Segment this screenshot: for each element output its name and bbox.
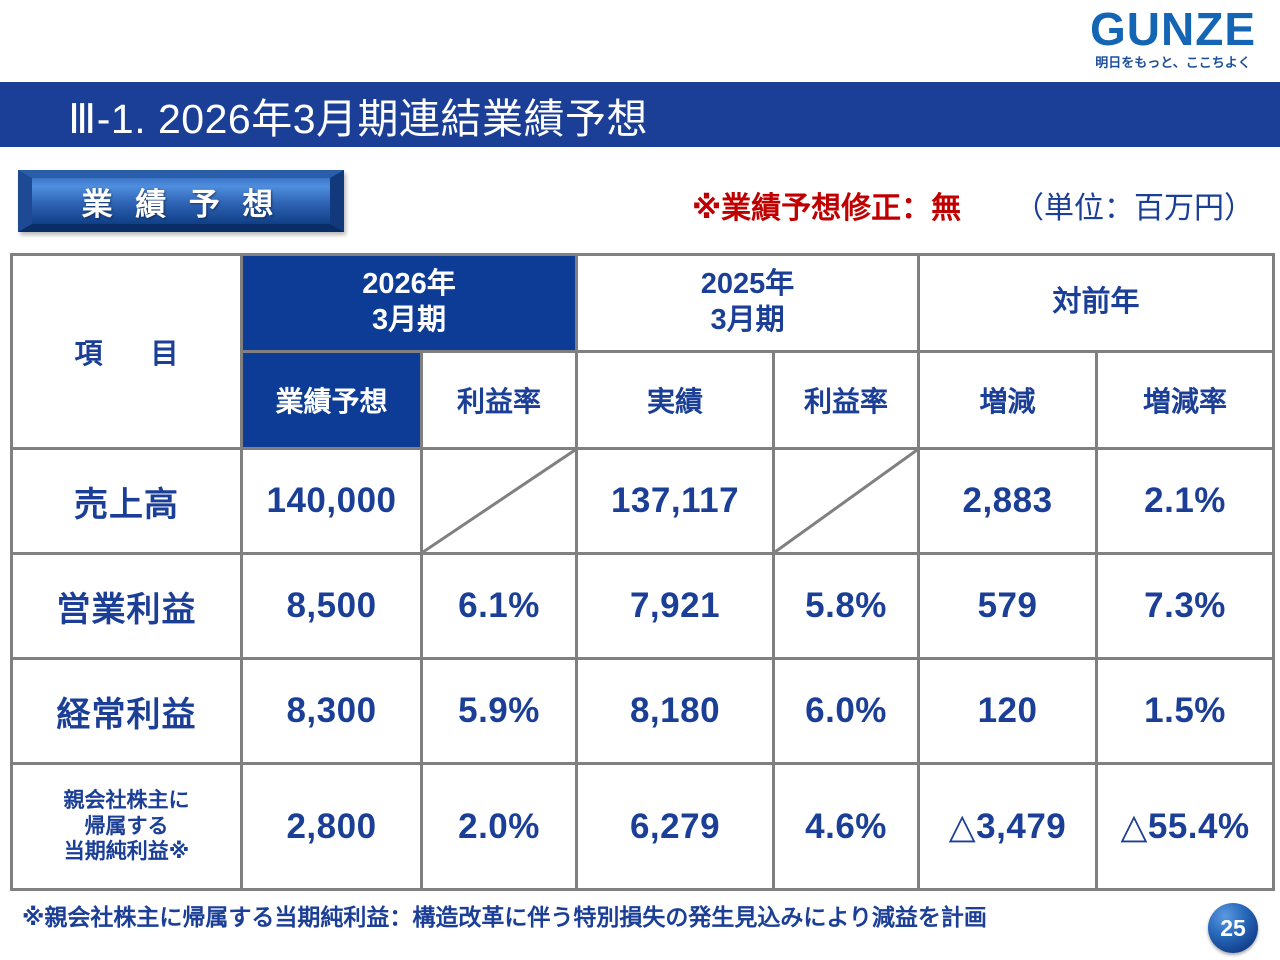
cell-forecast: 140,000 bbox=[242, 449, 422, 554]
cell-change-rate: 2.1% bbox=[1097, 449, 1274, 554]
cell-change: △3,479 bbox=[919, 764, 1097, 890]
cell-actual: 6,279 bbox=[577, 764, 774, 890]
header-forecast: 業績予想 bbox=[242, 352, 422, 449]
header-margin-2025: 利益率 bbox=[774, 352, 919, 449]
header-margin-2026: 利益率 bbox=[422, 352, 577, 449]
slide-title-bar: Ⅲ-1. 2026年3月期連結業績予想 bbox=[0, 82, 1280, 147]
header-fy2026-line1: 2026年 bbox=[243, 267, 575, 303]
header-fy2025: 2025年 3月期 bbox=[577, 255, 919, 352]
table-row: 親会社株主に 帰属する 当期純利益※ 2,800 2.0% 6,279 4.6%… bbox=[12, 764, 1274, 890]
cell-change: 2,883 bbox=[919, 449, 1097, 554]
cell-margin-2026: 2.0% bbox=[422, 764, 577, 890]
cell-margin-2025: 5.8% bbox=[774, 554, 919, 659]
header-fy2026: 2026年 3月期 bbox=[242, 255, 577, 352]
cell-margin-2026-na bbox=[422, 449, 577, 554]
section-badge: 業 績 予 想 bbox=[18, 170, 344, 232]
row-label: 親会社株主に 帰属する 当期純利益※ bbox=[12, 764, 242, 890]
cell-forecast: 8,500 bbox=[242, 554, 422, 659]
footnote: ※親会社株主に帰属する当期純利益：構造改革に伴う特別損失の発生見込みにより減益を… bbox=[22, 898, 987, 932]
slide-root: GUNZE 明日をもっと、ここちよく Ⅲ-1. 2026年3月期連結業績予想 業… bbox=[0, 0, 1280, 960]
forecast-revision-note: ※業績予想修正：無 bbox=[692, 183, 961, 227]
table-header-group-row: 項 目 2026年 3月期 2025年 3月期 対前年 bbox=[12, 255, 1274, 352]
logo-wordmark: GUNZE bbox=[1090, 6, 1256, 52]
earnings-forecast-table: 項 目 2026年 3月期 2025年 3月期 対前年 業績予想 利益率 実績 … bbox=[10, 253, 1275, 891]
page-number: 25 bbox=[1220, 917, 1246, 940]
cell-forecast: 8,300 bbox=[242, 659, 422, 764]
row-label: 経常利益 bbox=[12, 659, 242, 764]
table-row: 営業利益 8,500 6.1% 7,921 5.8% 579 7.3% bbox=[12, 554, 1274, 659]
cell-actual: 8,180 bbox=[577, 659, 774, 764]
section-badge-label: 業 績 予 想 bbox=[82, 179, 281, 224]
header-change: 増減 bbox=[919, 352, 1097, 449]
cell-actual: 137,117 bbox=[577, 449, 774, 554]
cell-change: 120 bbox=[919, 659, 1097, 764]
table-row: 売上高 140,000 137,117 2,883 2.1% bbox=[12, 449, 1274, 554]
page-number-badge: 25 bbox=[1208, 903, 1258, 953]
cell-actual: 7,921 bbox=[577, 554, 774, 659]
header-actual: 実績 bbox=[577, 352, 774, 449]
row-label: 営業利益 bbox=[12, 554, 242, 659]
cell-margin-2026: 6.1% bbox=[422, 554, 577, 659]
header-change-rate: 増減率 bbox=[1097, 352, 1274, 449]
logo-tagline: 明日をもっと、ここちよく bbox=[1090, 56, 1256, 69]
header-yoy: 対前年 bbox=[919, 255, 1274, 352]
row-label-line2: 帰属する bbox=[13, 814, 240, 840]
header-fy2025-line2: 3月期 bbox=[578, 303, 917, 339]
header-fy2026-line2: 3月期 bbox=[243, 303, 575, 339]
diagonal-slash-icon bbox=[423, 450, 575, 552]
table-row: 経常利益 8,300 5.9% 8,180 6.0% 120 1.5% bbox=[12, 659, 1274, 764]
row-label-line1: 親会社株主に bbox=[13, 788, 240, 814]
diagonal-slash-icon bbox=[775, 450, 917, 552]
cell-margin-2026: 5.9% bbox=[422, 659, 577, 764]
gunze-logo: GUNZE 明日をもっと、ここちよく bbox=[1090, 6, 1256, 69]
page-title: Ⅲ-1. 2026年3月期連結業績予想 bbox=[68, 85, 648, 145]
unit-note: （単位：百万円） bbox=[1014, 183, 1254, 227]
cell-change-rate: 7.3% bbox=[1097, 554, 1274, 659]
row-label-line3: 当期純利益※ bbox=[13, 839, 240, 865]
cell-change-rate: 1.5% bbox=[1097, 659, 1274, 764]
cell-margin-2025: 6.0% bbox=[774, 659, 919, 764]
cell-change-rate: △55.4% bbox=[1097, 764, 1274, 890]
row-label: 売上高 bbox=[12, 449, 242, 554]
cell-change: 579 bbox=[919, 554, 1097, 659]
cell-margin-2025-na bbox=[774, 449, 919, 554]
header-fy2025-line1: 2025年 bbox=[578, 267, 917, 303]
cell-margin-2025: 4.6% bbox=[774, 764, 919, 890]
header-item: 項 目 bbox=[12, 255, 242, 449]
cell-forecast: 2,800 bbox=[242, 764, 422, 890]
